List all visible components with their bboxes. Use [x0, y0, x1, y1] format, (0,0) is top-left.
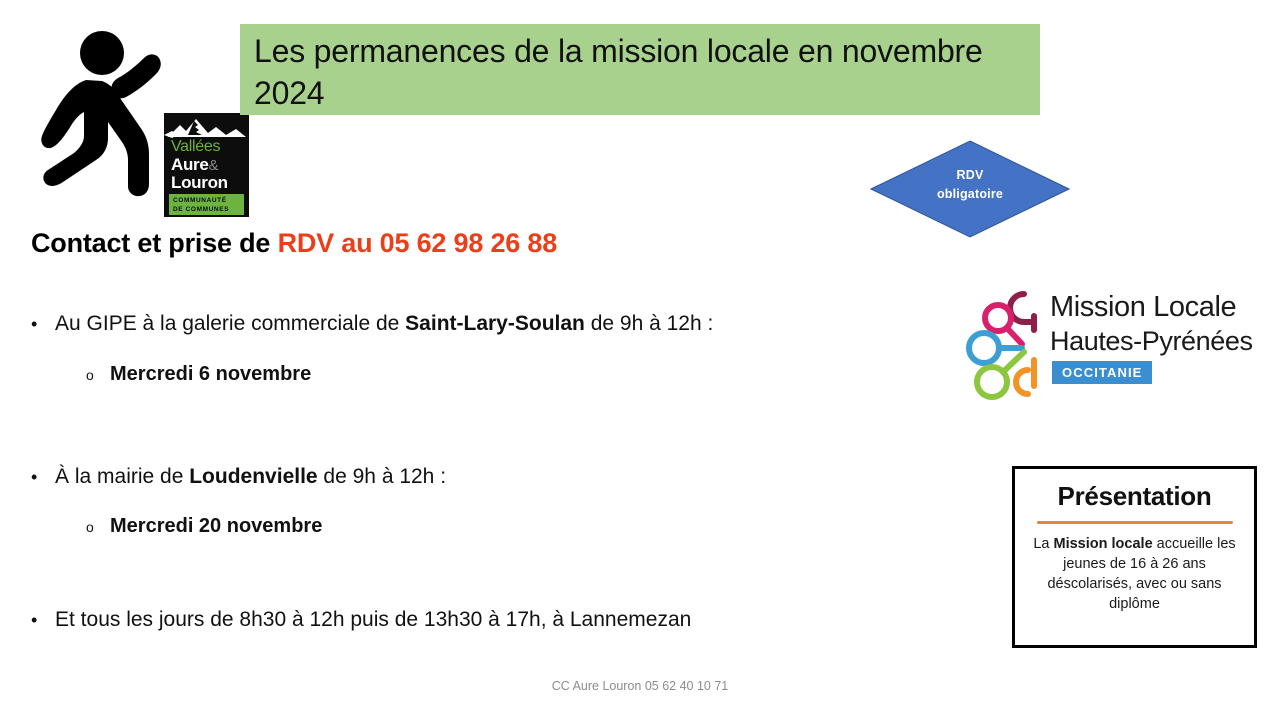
logo-word-aure: Aure: [171, 155, 209, 174]
presentation-divider: [1037, 521, 1233, 524]
sub-item-date: Mercredi 6 novembre: [110, 363, 311, 385]
page-title: Les permanences de la mission locale en …: [254, 30, 1026, 114]
sub-item-date: Mercredi 20 novembre: [110, 515, 322, 537]
title-banner: Les permanences de la mission locale en …: [240, 24, 1040, 115]
list-item-text-post: de 9h à 12h :: [585, 312, 713, 335]
contact-phone-highlight: RDV au 05 62 98 26 88: [278, 228, 558, 258]
logo-band-line1: COMMUNAUTÉ: [169, 196, 244, 205]
mission-locale-logo: Mission Locale Hautes-Pyrénées OCCITANIE: [962, 286, 1254, 408]
cc-aure-louron-logo-block: Vallées Aure& Louron COMMUNAUTÉ DE COMMU…: [34, 18, 234, 203]
contact-heading-prefix: Contact et prise de: [31, 228, 278, 258]
list-item-location: Loudenvielle: [189, 465, 317, 488]
slide-footer: CC Aure Louron 05 62 40 10 71: [0, 679, 1280, 693]
list-item-text-pre: À la mairie de: [55, 465, 189, 488]
mission-locale-line-2: Hautes-Pyrénées: [1050, 326, 1253, 357]
bullet-marker: •: [31, 463, 55, 491]
list-item: •Au GIPE à la galerie commerciale de Sai…: [31, 310, 713, 338]
running-man-icon: [34, 18, 169, 198]
list-item-text-pre: Et tous les jours de 8h30 à 12h puis de …: [55, 608, 691, 631]
presentation-body: La Mission locale accueille les jeunes d…: [1015, 534, 1254, 614]
list-item: oMercredi 20 novembre: [86, 512, 322, 541]
rdv-obligatoire-diamond: RDV obligatoire: [870, 140, 1070, 238]
bullet-marker: •: [31, 310, 55, 338]
occitanie-badge: OCCITANIE: [1052, 361, 1152, 384]
bullet-marker: •: [31, 606, 55, 634]
logo-band-line2: DE COMMUNES: [169, 205, 244, 214]
sub-bullet-marker: o: [86, 513, 110, 541]
list-item-text-pre: Au GIPE à la galerie commerciale de: [55, 312, 405, 335]
list-item: •À la mairie de Loudenvielle de 9h à 12h…: [31, 463, 446, 491]
presentation-body-pre: La: [1033, 536, 1053, 552]
logo-line-aure: Aure&: [164, 156, 249, 173]
list-item: oMercredi 6 novembre: [86, 360, 311, 389]
vallees-aure-louron-logo: Vallées Aure& Louron COMMUNAUTÉ DE COMMU…: [164, 113, 249, 217]
logo-ampersand: &: [209, 157, 219, 174]
list-item-location: Saint-Lary-Soulan: [405, 312, 585, 335]
presentation-body-strong: Mission locale: [1054, 536, 1153, 552]
list-item: •Et tous les jours de 8h30 à 12h puis de…: [31, 606, 691, 634]
contact-heading: Contact et prise de RDV au 05 62 98 26 8…: [31, 228, 557, 259]
presentation-title: Présentation: [1015, 481, 1254, 511]
logo-communaute-band: COMMUNAUTÉ DE COMMUNES: [169, 194, 244, 215]
list-item-text-post: de 9h à 12h :: [318, 465, 446, 488]
logo-line-louron: Louron: [164, 174, 249, 191]
presentation-box: Présentation La Mission locale accueille…: [1012, 466, 1257, 648]
mission-locale-line-1: Mission Locale: [1050, 291, 1236, 324]
diamond-shape-icon: [870, 140, 1070, 238]
mission-locale-mark-icon: [962, 286, 1038, 406]
sub-bullet-marker: o: [86, 361, 110, 389]
logo-line-vallees: Vallées: [164, 139, 249, 155]
